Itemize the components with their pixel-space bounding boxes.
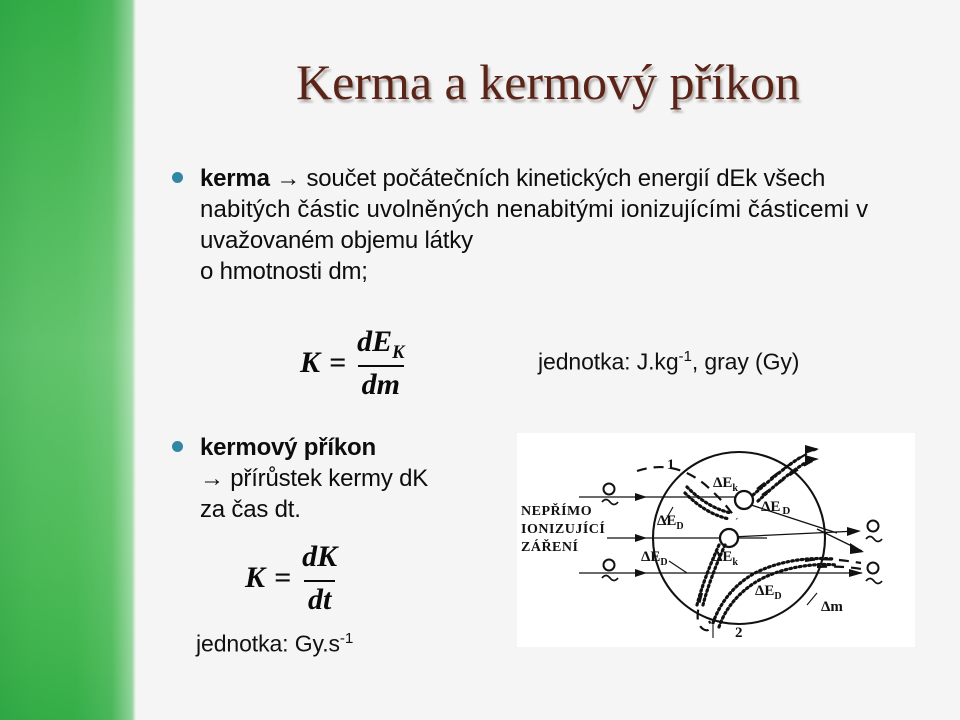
label-delta-ed-mid-left-sub: D bbox=[660, 557, 667, 568]
label-delta-ed-upper-left-sub: D bbox=[676, 521, 683, 532]
kerma-formula-numerator-subscript: K bbox=[392, 342, 404, 363]
bullet-kermovy-prikon-line-3: za čas dt. bbox=[200, 494, 530, 525]
interaction-point-2 bbox=[720, 529, 738, 547]
kerma-rate-formula-lhs: K bbox=[245, 561, 265, 595]
label-delta-ed-lower-main: ΔE bbox=[755, 583, 774, 599]
kerma-formula-denominator: dm bbox=[358, 365, 404, 400]
bullet-marker-icon bbox=[172, 172, 183, 183]
track-label-2: 2 bbox=[735, 625, 743, 641]
label-delta-ed-lower-sub: D bbox=[774, 591, 781, 602]
kerma-rate-formula-equals: = bbox=[274, 561, 291, 595]
track-label-1: 1 bbox=[667, 457, 675, 473]
caption-line-3: ZÁŘENÍ bbox=[521, 538, 578, 555]
caption-line-1: NEPŘÍMO bbox=[521, 502, 592, 519]
label-delta-ed-top-right-sub: D bbox=[782, 505, 790, 517]
kerma-unit-text: jednotka: J.kg bbox=[538, 349, 679, 375]
kerma-unit-exponent: -1 bbox=[679, 348, 692, 365]
kerma-rate-formula-denominator: dt bbox=[304, 580, 335, 615]
bullet-kerma-line-1-rest: součet počátečních kinetických energií d… bbox=[300, 165, 825, 192]
bullet-kerma-line-2: nabitých částic uvolněných nenabitými io… bbox=[200, 194, 940, 225]
caption-line-2: IONIZUJÍCÍ bbox=[521, 520, 605, 537]
sidebar-green-band bbox=[0, 0, 136, 720]
kerma-unit-tail: , gray (Gy) bbox=[692, 349, 800, 375]
label-delta-ek-top-sub: k bbox=[732, 483, 738, 494]
bullet-kermovy-prikon-lead: kermový příkon bbox=[200, 432, 530, 463]
bullet-kerma-arrow: → bbox=[276, 165, 300, 192]
kerma-formula: K = dEK dm bbox=[300, 327, 409, 400]
kerma-rate-formula-fraction: dK dt bbox=[298, 542, 341, 615]
kerma-formula-equals: = bbox=[329, 346, 346, 380]
bullet-kerma-line-4: o hmotnosti dm; bbox=[200, 256, 940, 287]
bullet-kermovy-prikon: kermový příkon → přírůstek kermy dK za č… bbox=[172, 432, 530, 525]
label-delta-ek-mid-sub: k bbox=[732, 557, 738, 568]
kerma-unit-label: jednotka: J.kg-1, gray (Gy) bbox=[538, 348, 799, 376]
bullet-kerma: kerma → součet počátečních kinetických e… bbox=[172, 163, 940, 287]
label-delta-ek-top-main: ΔE bbox=[713, 475, 732, 491]
bullet-kermovy-prikon-line-2: → přírůstek kermy dK bbox=[200, 463, 530, 494]
kerma-rate-formula-numerator: dK bbox=[298, 542, 341, 580]
label-delta-ed-upper-left-main: ΔE bbox=[657, 513, 676, 529]
kerma-diagram-figure: NEPŘÍMO IONIZUJÍCÍ ZÁŘENÍ 1 2 ΔEk ΔED ΔE… bbox=[517, 433, 915, 647]
label-delta-ed-mid-left-main: ΔE bbox=[641, 549, 660, 565]
bullet-kermovy-prikon-lines: kermový příkon → přírůstek kermy dK za č… bbox=[200, 432, 530, 525]
label-delta-m: Δm bbox=[821, 599, 843, 615]
bullet-marker-icon bbox=[172, 441, 183, 452]
kerma-diagram-svg: NEPŘÍMO IONIZUJÍCÍ ZÁŘENÍ 1 2 ΔEk ΔED ΔE… bbox=[517, 433, 915, 647]
label-delta-ed-top-right-main: ΔE bbox=[761, 499, 780, 515]
slide-canvas: Kerma a kermový příkon kerma → součet po… bbox=[0, 0, 960, 720]
bullet-kerma-lines: kerma → součet počátečních kinetických e… bbox=[200, 163, 940, 287]
kerma-formula-fraction: dEK dm bbox=[353, 327, 408, 400]
bullet-kerma-line-1: kerma → součet počátečních kinetických e… bbox=[200, 163, 940, 194]
bullet-kermovy-prikon-lead-text: kermový příkon bbox=[200, 434, 376, 461]
kerma-formula-numerator-main: dE bbox=[357, 325, 392, 358]
kerma-rate-unit-label: jednotka: Gy.s-1 bbox=[196, 630, 353, 658]
label-delta-ek-mid-main: ΔE bbox=[713, 549, 732, 565]
bullet-kerma-lead: kerma bbox=[200, 165, 270, 192]
page-title: Kerma a kermový příkon bbox=[136, 52, 960, 112]
kerma-rate-formula: K = dK dt bbox=[245, 542, 341, 615]
sidebar-horizontal-shading bbox=[0, 0, 136, 720]
kerma-rate-unit-text: jednotka: Gy.s bbox=[196, 631, 340, 657]
kerma-rate-unit-exponent: -1 bbox=[340, 630, 353, 647]
kerma-formula-numerator: dEK bbox=[353, 327, 408, 365]
bullet-kerma-line-3: uvažovaném objemu látky bbox=[200, 225, 940, 256]
kerma-rate-formula-numerator-main: dK bbox=[302, 540, 337, 573]
kerma-formula-lhs: K bbox=[300, 346, 320, 380]
